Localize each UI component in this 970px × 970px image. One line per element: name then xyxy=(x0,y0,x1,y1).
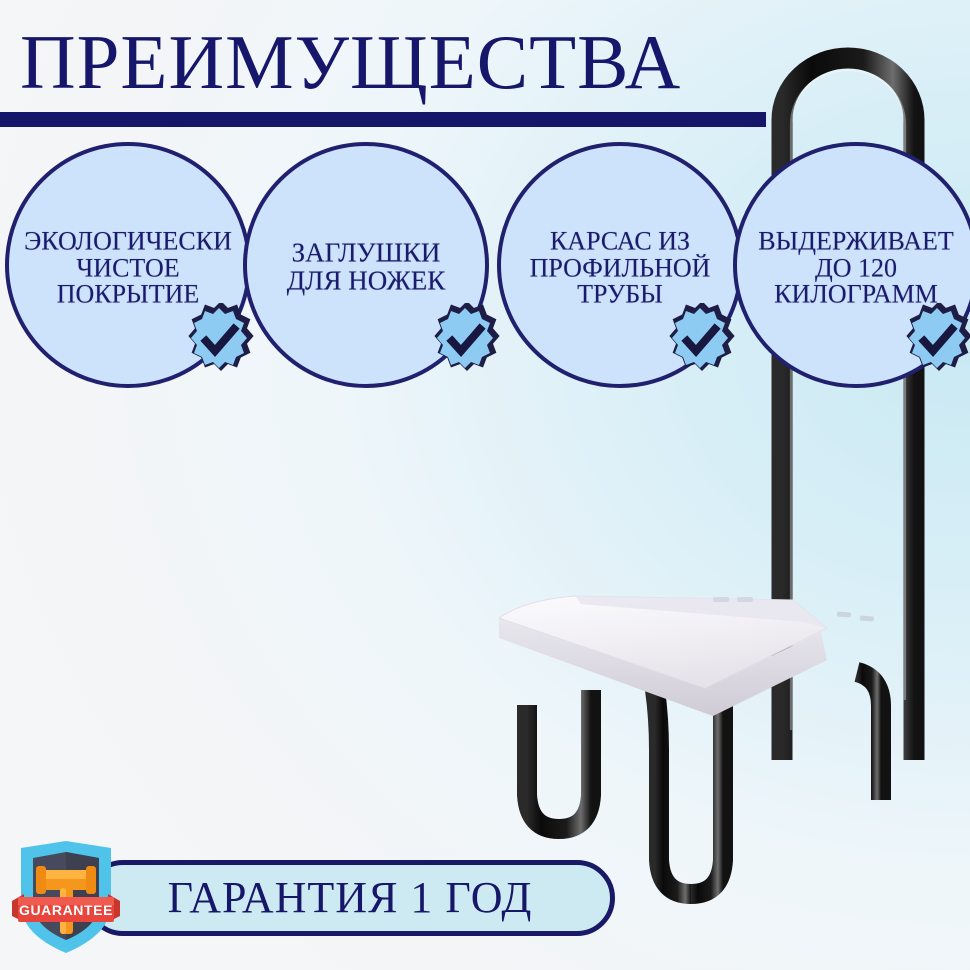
guarantee-label: ГАРАНТИЯ 1 ГОД xyxy=(168,872,533,923)
feature-label-4: ВЫДЕРЖИВАЕТ ДО 120 КИЛОГРАММ xyxy=(711,228,970,308)
guarantee-pill: ГАРАНТИЯ 1 ГОД xyxy=(85,860,615,936)
guarantee-shield-icon: GUARANTEE xyxy=(12,838,120,956)
infographic-canvas: ПРЕИМУЩЕСТВА xyxy=(0,0,970,970)
check-badge-icon xyxy=(902,303,970,377)
feature-label-2: ЗАГЛУШКИ ДЛЯ НОЖЕК xyxy=(225,240,507,295)
guarantee-ribbon-text: GUARANTEE xyxy=(19,902,113,918)
check-badge-icon xyxy=(430,303,504,377)
step-stool-with-handrail-image xyxy=(455,0,970,970)
check-badge-icon xyxy=(665,303,739,377)
check-badge-icon xyxy=(184,303,258,377)
